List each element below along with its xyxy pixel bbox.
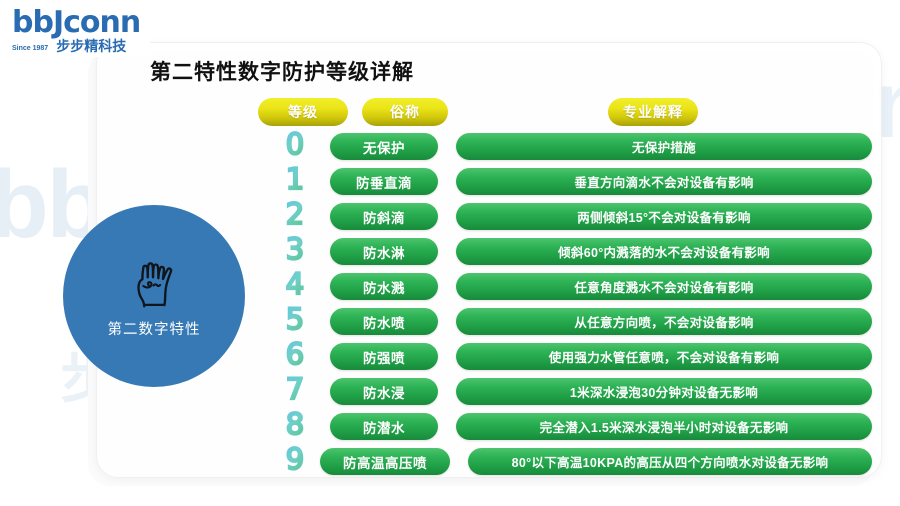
column-header-detail: 专业解释 <box>608 98 698 126</box>
table-header-row: 等级 俗称 专业解释 <box>278 98 872 128</box>
description-pill: 使用强力水管任意喷，不会对设备有影响 <box>456 343 872 370</box>
level-number: 7 <box>280 372 310 406</box>
ip-rating-table: 等级 俗称 专业解释 0 0 无保护 无保护措施 1 1 防垂直滴 垂直方向滴水… <box>278 98 872 478</box>
table-row: 9 9 防高温高压喷 80°以下高温10KPA的高压从四个方向喷水对设备无影响 <box>278 445 872 478</box>
level-number: 2 <box>280 197 310 231</box>
second-digit-badge: 第二数字特性 <box>63 205 245 387</box>
table-row: 3 3 防水淋 倾斜60°内溅落的水不会对设备有影响 <box>278 235 872 268</box>
level-number-cell: 5 5 <box>280 305 310 338</box>
logo-since-text: Since 1987 <box>12 45 48 53</box>
table-row: 1 1 防垂直滴 垂直方向滴水不会对设备有影响 <box>278 165 872 198</box>
level-number: 5 <box>280 302 310 336</box>
term-pill: 防斜滴 <box>330 203 438 230</box>
level-number: 9 <box>280 442 310 476</box>
term-pill: 防强喷 <box>330 343 438 370</box>
level-number-cell: 4 4 <box>280 270 310 303</box>
level-number: 8 <box>280 407 310 441</box>
company-logo: bbJconn Since 1987 步步精科技 <box>8 6 150 57</box>
column-header-level: 等级 <box>258 98 348 126</box>
description-pill: 两侧倾斜15°不会对设备有影响 <box>456 203 872 230</box>
term-pill: 防垂直滴 <box>330 168 438 195</box>
description-pill: 无保护措施 <box>456 133 872 160</box>
logo-chinese-name: 步步精科技 <box>56 39 126 53</box>
level-number-cell: 8 8 <box>280 410 310 443</box>
table-row: 0 0 无保护 无保护措施 <box>278 130 872 163</box>
logo-wordmark: bbJconn <box>12 8 140 38</box>
table-row: 2 2 防斜滴 两侧倾斜15°不会对设备有影响 <box>278 200 872 233</box>
table-row: 4 4 防水溅 任意角度溅水不会对设备有影响 <box>278 270 872 303</box>
term-pill: 无保护 <box>330 133 438 160</box>
level-number: 1 <box>280 162 310 196</box>
term-pill: 防高温高压喷 <box>320 448 450 475</box>
term-pill: 防水溅 <box>330 273 438 300</box>
description-pill: 倾斜60°内溅落的水不会对设备有影响 <box>456 238 872 265</box>
term-pill: 防潜水 <box>330 413 438 440</box>
description-pill: 任意角度溅水不会对设备有影响 <box>456 273 872 300</box>
level-number: 6 <box>280 337 310 371</box>
description-pill: 80°以下高温10KPA的高压从四个方向喷水对设备无影响 <box>468 448 872 475</box>
level-number-cell: 6 6 <box>280 340 310 373</box>
description-pill: 从任意方向喷，不会对设备影响 <box>456 308 872 335</box>
level-number-cell: 0 0 <box>280 130 310 163</box>
description-pill: 1米深水浸泡30分钟对设备无影响 <box>456 378 872 405</box>
level-number-cell: 3 3 <box>280 235 310 268</box>
table-row: 6 6 防强喷 使用强力水管任意喷，不会对设备有影响 <box>278 340 872 373</box>
term-pill: 防水淋 <box>330 238 438 265</box>
description-pill: 垂直方向滴水不会对设备有影响 <box>456 168 872 195</box>
level-number: 3 <box>280 232 310 266</box>
level-number-cell: 2 2 <box>280 200 310 233</box>
level-number-cell: 1 1 <box>280 165 310 198</box>
page-title: 第二特性数字防护等级详解 <box>150 56 414 86</box>
term-pill: 防水浸 <box>330 378 438 405</box>
level-number: 4 <box>280 267 310 301</box>
level-number: 0 <box>280 127 310 161</box>
column-header-term: 俗称 <box>362 98 448 126</box>
term-pill: 防水喷 <box>330 308 438 335</box>
hand-icon <box>123 254 185 316</box>
description-pill: 完全潜入1.5米深水浸泡半小时对设备无影响 <box>456 413 872 440</box>
table-row: 8 8 防潜水 完全潜入1.5米深水浸泡半小时对设备无影响 <box>278 410 872 443</box>
level-number-cell: 7 7 <box>280 375 310 408</box>
slide-canvas: bbJconn bbJconn bbJconn 步步精科技 步步精科技 bbJc… <box>0 0 900 506</box>
table-row: 5 5 防水喷 从任意方向喷，不会对设备影响 <box>278 305 872 338</box>
table-row: 7 7 防水浸 1米深水浸泡30分钟对设备无影响 <box>278 375 872 408</box>
level-number-cell: 9 9 <box>280 445 310 478</box>
badge-label: 第二数字特性 <box>108 318 201 339</box>
